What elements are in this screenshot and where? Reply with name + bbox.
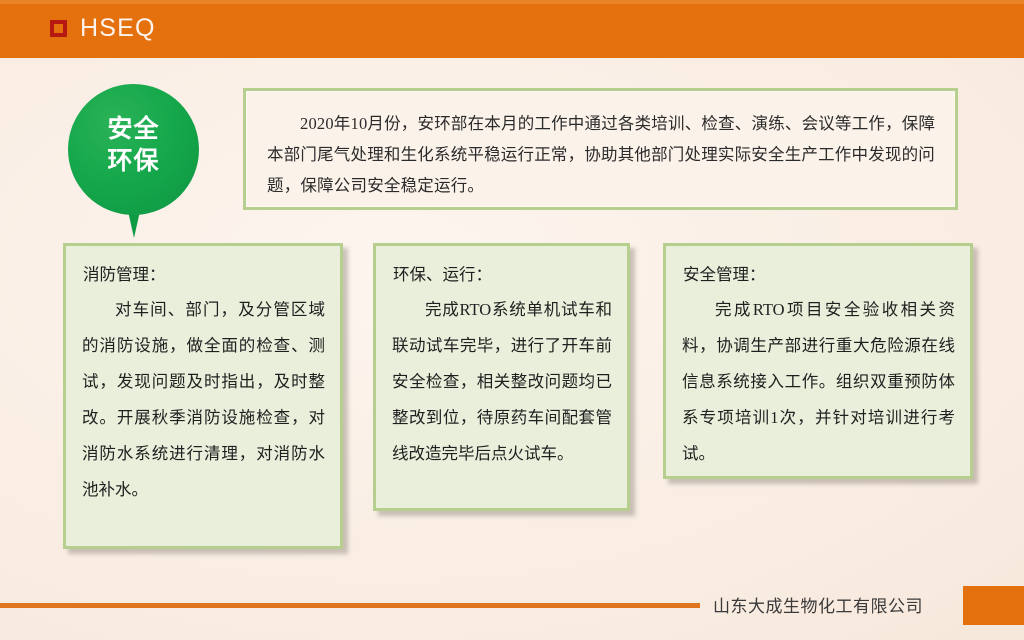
card-title: 安全管理：: [666, 246, 970, 288]
content-card-environment-operations: 环保、运行： 完成RTO系统单机试车和联动试车完毕，进行了开车前安全检查，相关整…: [373, 243, 630, 511]
content-card-fire-safety: 消防管理： 对车间、部门，及分管区域的消防设施，做全面的检查、测试，发现问题及时…: [63, 243, 343, 549]
section-badge: 安全 环保: [68, 84, 199, 215]
card-body: 完成RTO系统单机试车和联动试车完毕，进行了开车前安全检查，相关整改问题均已整改…: [376, 288, 627, 472]
badge-label-line-1: 安全: [68, 113, 199, 145]
slide-canvas: HSEQ 安全 环保 2020年10月份，安环部在本月的工作中通过各类培训、检查…: [0, 0, 1024, 640]
square-outline-icon: [50, 20, 67, 37]
header-top-accent-strip: [0, 0, 1024, 4]
card-body: 对车间、部门，及分管区域的消防设施，做全面的检查、测试，发现问题及时指出，及时整…: [66, 288, 340, 508]
card-title: 环保、运行：: [376, 246, 627, 288]
badge-label-line-2: 环保: [68, 145, 199, 177]
header-title-group: HSEQ: [50, 16, 156, 41]
footer-company-name: 山东大成生物化工有限公司: [713, 592, 923, 617]
card-title: 消防管理：: [66, 246, 340, 288]
footer-accent-line: [0, 603, 700, 608]
content-card-safety-management: 安全管理： 完成RTO项目安全验收相关资料，协调生产部进行重大危险源在线信息系统…: [663, 243, 973, 479]
summary-box: 2020年10月份，安环部在本月的工作中通过各类培训、检查、演练、会议等工作，保…: [243, 88, 958, 210]
badge-label: 安全 环保: [68, 113, 199, 177]
page-title: HSEQ: [80, 16, 156, 41]
header-bar: HSEQ: [0, 0, 1024, 58]
footer-accent-block: [963, 586, 1024, 625]
summary-text: 2020年10月份，安环部在本月的工作中通过各类培训、检查、演练、会议等工作，保…: [246, 91, 955, 201]
card-body: 完成RTO项目安全验收相关资料，协调生产部进行重大危险源在线信息系统接入工作。组…: [666, 288, 970, 472]
